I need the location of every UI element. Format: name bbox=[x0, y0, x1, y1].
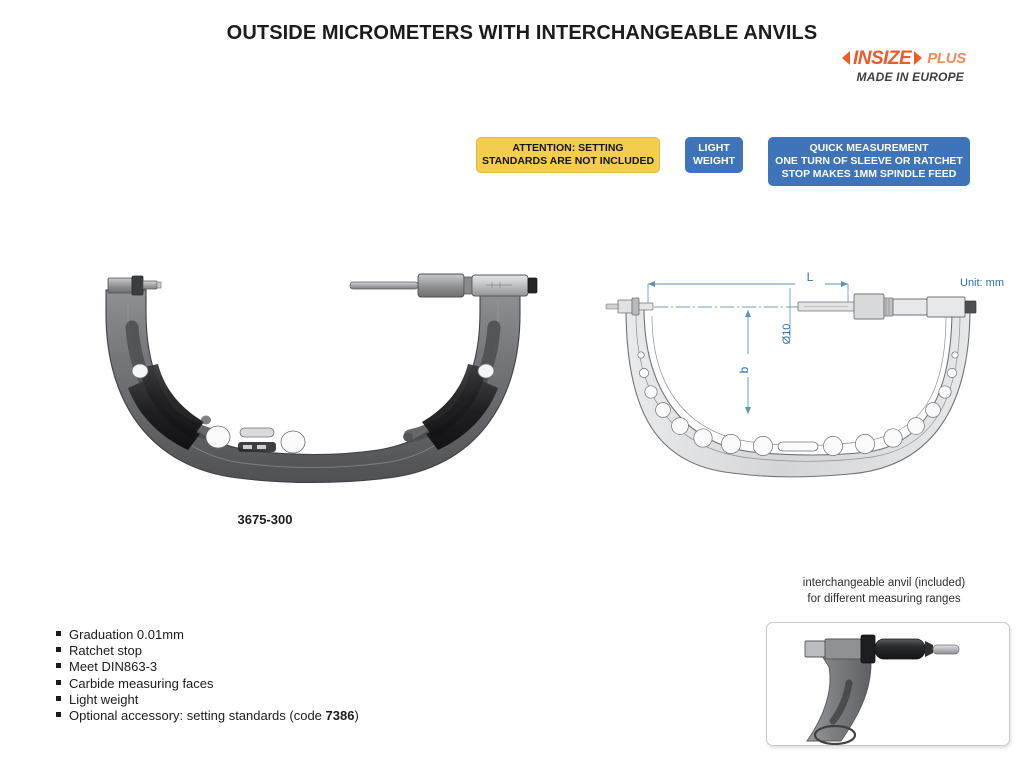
product-photo bbox=[88, 272, 538, 492]
list-item: Carbide measuring faces bbox=[56, 676, 359, 692]
technical-drawing: L b Ø10 bbox=[600, 262, 1020, 492]
badge-attention-line1: ATTENTION: SETTING bbox=[482, 142, 654, 155]
feature-text-lead: Optional accessory: setting standards (c… bbox=[69, 708, 326, 723]
list-item: Graduation 0.01mm bbox=[56, 627, 359, 643]
badge-quick-measurement: QUICK MEASUREMENT ONE TURN OF SLEEVE OR … bbox=[768, 137, 970, 186]
bullet-icon bbox=[56, 631, 61, 636]
feature-text-accessory: Optional accessory: setting standards (c… bbox=[69, 708, 359, 725]
page-title: OUTSIDE MICROMETERS WITH INTERCHANGEABLE… bbox=[0, 22, 1024, 45]
badge-attention: ATTENTION: SETTING STANDARDS ARE NOT INC… bbox=[476, 137, 660, 173]
inset-caption: interchangeable anvil (included) for dif… bbox=[756, 576, 1012, 607]
datasheet-page: OUTSIDE MICROMETERS WITH INTERCHANGEABLE… bbox=[0, 0, 1024, 768]
bullet-icon bbox=[56, 680, 61, 685]
accessory-code: 7386 bbox=[326, 708, 355, 723]
inset-caption-line2: for different measuring ranges bbox=[756, 592, 1012, 608]
inset-photo bbox=[766, 622, 1010, 746]
bullet-icon bbox=[56, 663, 61, 668]
inset-caption-line1: interchangeable anvil (included) bbox=[756, 576, 1012, 592]
feature-text: Light weight bbox=[69, 692, 138, 709]
bullet-icon bbox=[56, 696, 61, 701]
drawing-unit-label: Unit: mm bbox=[960, 277, 1004, 289]
feature-text: Meet DIN863-3 bbox=[69, 659, 157, 676]
list-item: Light weight bbox=[56, 692, 359, 708]
list-item: Ratchet stop bbox=[56, 643, 359, 659]
badge-attention-line2: STANDARDS ARE NOT INCLUDED bbox=[482, 155, 654, 168]
badge-light-line2: WEIGHT bbox=[693, 155, 735, 168]
badge-quick-line2: ONE TURN OF SLEEVE OR RATCHET bbox=[775, 155, 963, 168]
badge-light-weight: LIGHT WEIGHT bbox=[685, 137, 743, 173]
feature-text: Carbide measuring faces bbox=[69, 676, 214, 693]
bullet-icon bbox=[56, 647, 61, 652]
logo-brand-text: INSIZE bbox=[853, 49, 911, 68]
badge-light-line1: LIGHT bbox=[693, 142, 735, 155]
bullet-icon bbox=[56, 712, 61, 717]
list-item: Meet DIN863-3 bbox=[56, 659, 359, 675]
logo-suffix-text: PLUS bbox=[927, 51, 966, 66]
dim-label-diameter: Ø10 bbox=[781, 324, 793, 345]
arrow-right-icon bbox=[914, 51, 922, 65]
logo-tagline: MADE IN EUROPE bbox=[786, 70, 966, 84]
badge-quick-line3: STOP MAKES 1MM SPINDLE FEED bbox=[775, 168, 963, 181]
brand-logo: INSIZE PLUS MADE IN EUROPE bbox=[786, 48, 966, 84]
list-item: Optional accessory: setting standards (c… bbox=[56, 708, 359, 724]
feature-list: Graduation 0.01mm Ratchet stop Meet DIN8… bbox=[56, 627, 359, 724]
product-model-number: 3675-300 bbox=[150, 512, 380, 527]
dim-label-b: b bbox=[737, 366, 751, 373]
feature-text: Ratchet stop bbox=[69, 643, 142, 660]
badge-quick-line1: QUICK MEASUREMENT bbox=[775, 142, 963, 155]
arrow-left-icon bbox=[842, 51, 850, 65]
feature-text: Graduation 0.01mm bbox=[69, 627, 184, 644]
feature-text-tail: ) bbox=[354, 708, 358, 723]
dim-label-L: L bbox=[807, 270, 814, 284]
